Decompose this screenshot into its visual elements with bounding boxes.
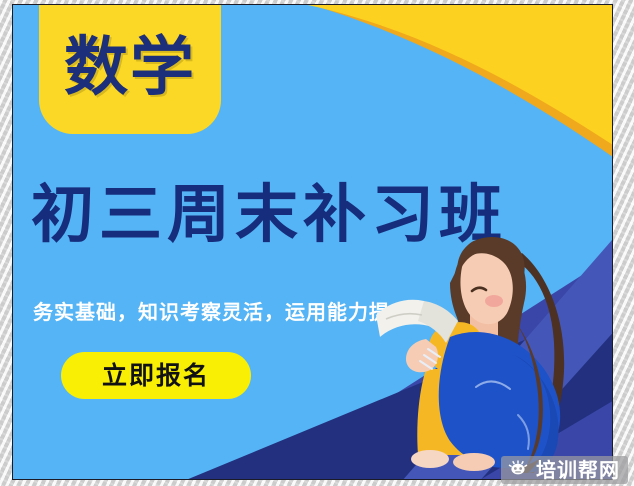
enroll-now-button-label: 立即报名 bbox=[102, 363, 210, 388]
course-poster: 数学 初三周末补习班 务实基础，知识考察灵活，运用能力提升 立即报名 bbox=[12, 4, 613, 480]
enroll-now-button[interactable]: 立即报名 bbox=[61, 352, 251, 399]
sun-face-icon bbox=[507, 459, 529, 481]
subject-badge: 数学 bbox=[39, 4, 221, 134]
watermark-label: 培训帮网 bbox=[536, 460, 620, 480]
subject-badge-label: 数学 bbox=[64, 22, 196, 100]
screenshot-canvas: 数学 初三周末补习班 务实基础，知识考察灵活，运用能力提升 立即报名 bbox=[0, 0, 634, 486]
poster-subtitle: 务实基础，知识考察灵活，运用能力提升 bbox=[33, 301, 411, 323]
foot-left bbox=[411, 450, 449, 468]
girl-reading-illustration bbox=[366, 219, 613, 479]
cheek-blush bbox=[485, 295, 503, 307]
foot-right bbox=[453, 453, 495, 471]
site-watermark: 培训帮网 bbox=[501, 456, 628, 484]
